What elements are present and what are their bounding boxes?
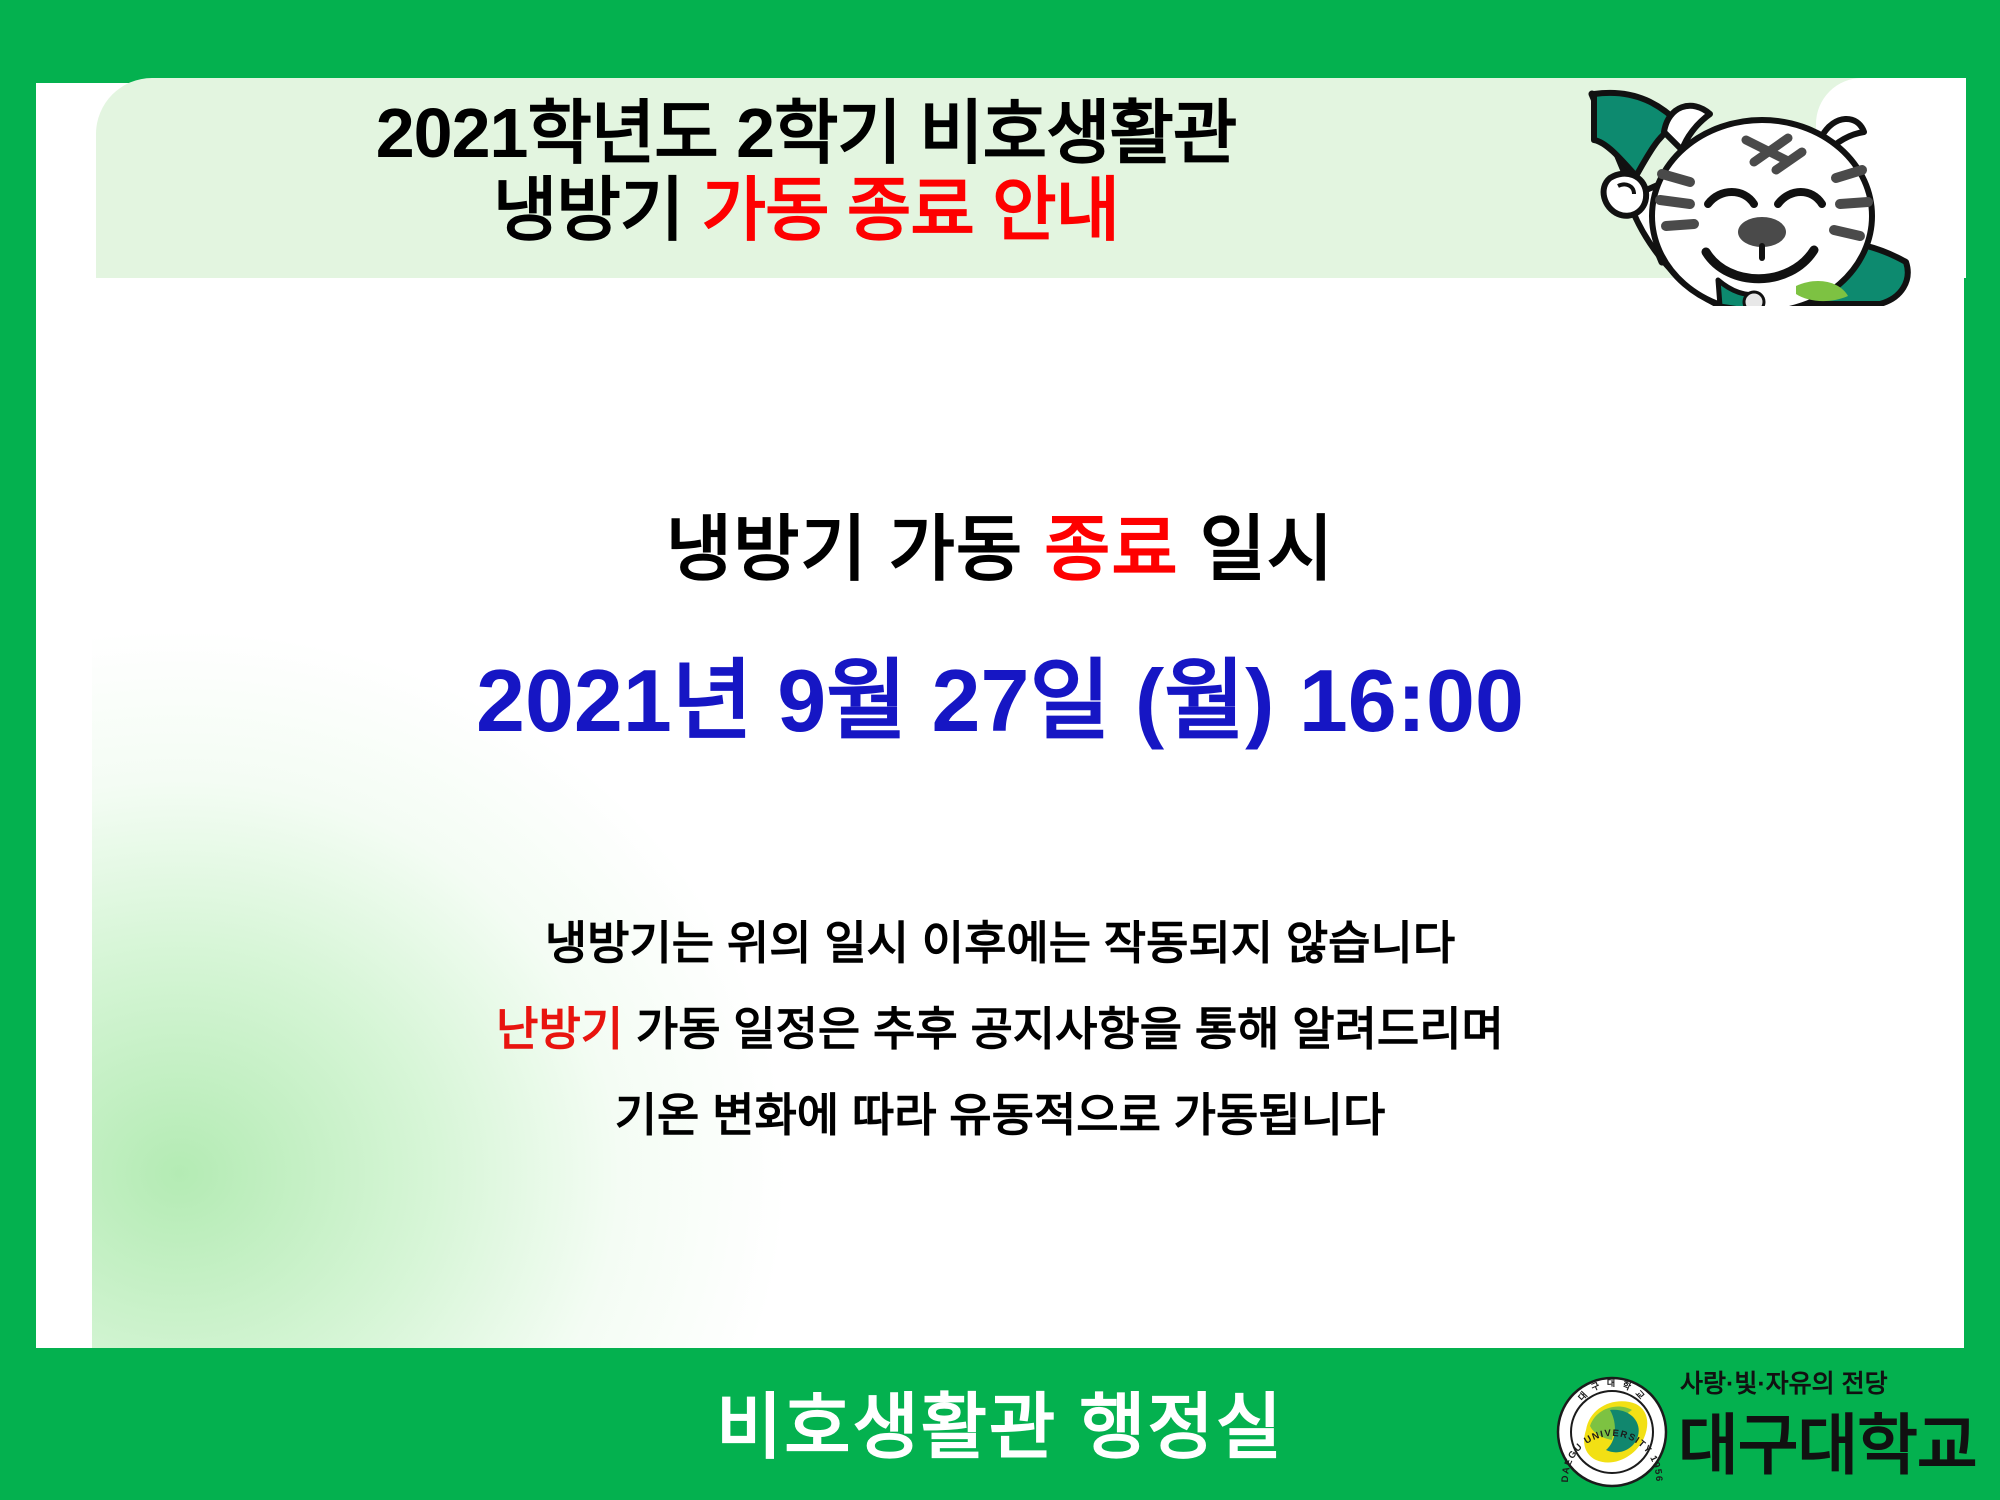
subject-part-1: 냉방기 가동 [666,510,1044,590]
shutdown-datetime: 2021년 9월 27일 (월) 16:00 [0,630,2000,757]
subject-heading: 냉방기 가동 종료 일시 [0,490,2000,595]
note-line-1: 냉방기는 위의 일시 이후에는 작동되지 않습니다 [0,900,2000,986]
page-title-line-2: 냉방기 가동 종료 안내 [96,172,1516,249]
note-line-2-red: 난방기 [496,1003,623,1055]
subject-highlight: 종료 [1044,510,1178,590]
note-line-3: 기온 변화에 따라 유동적으로 가동됩니다 [0,1072,2000,1158]
note-line-2: 난방기 가동 일정은 추후 공지사항을 통해 알려드리며 [0,986,2000,1072]
white-tiger-mascot-icon [1540,66,1960,306]
brand-name: 대구대학교 [1678,1392,1977,1488]
page-title-line-2-red: 가동 종료 안내 [702,171,1119,249]
page-title-line-2-black: 냉방기 [493,171,702,249]
poster-root: 2021학년도 2학기 비호생활관 냉방기 가동 종료 안내 [0,0,2000,1500]
page-title: 2021학년도 2학기 비호생활관 냉방기 가동 종료 안내 [96,95,1516,249]
page-title-line-1: 2021학년도 2학기 비호생활관 [96,95,1516,172]
university-brand: DAEGU UNIVERSITY 1956 대 구 대 학 교 사랑·빛·자유의… [1556,1368,1986,1494]
daegu-university-seal-icon: DAEGU UNIVERSITY 1956 대 구 대 학 교 [1556,1376,1668,1488]
subject-part-2: 일시 [1179,510,1334,590]
notes-block: 냉방기는 위의 일시 이후에는 작동되지 않습니다 난방기 가동 일정은 추후 … [0,900,2000,1158]
note-line-2-black: 가동 일정은 추후 공지사항을 통해 알려드리며 [623,1003,1504,1055]
